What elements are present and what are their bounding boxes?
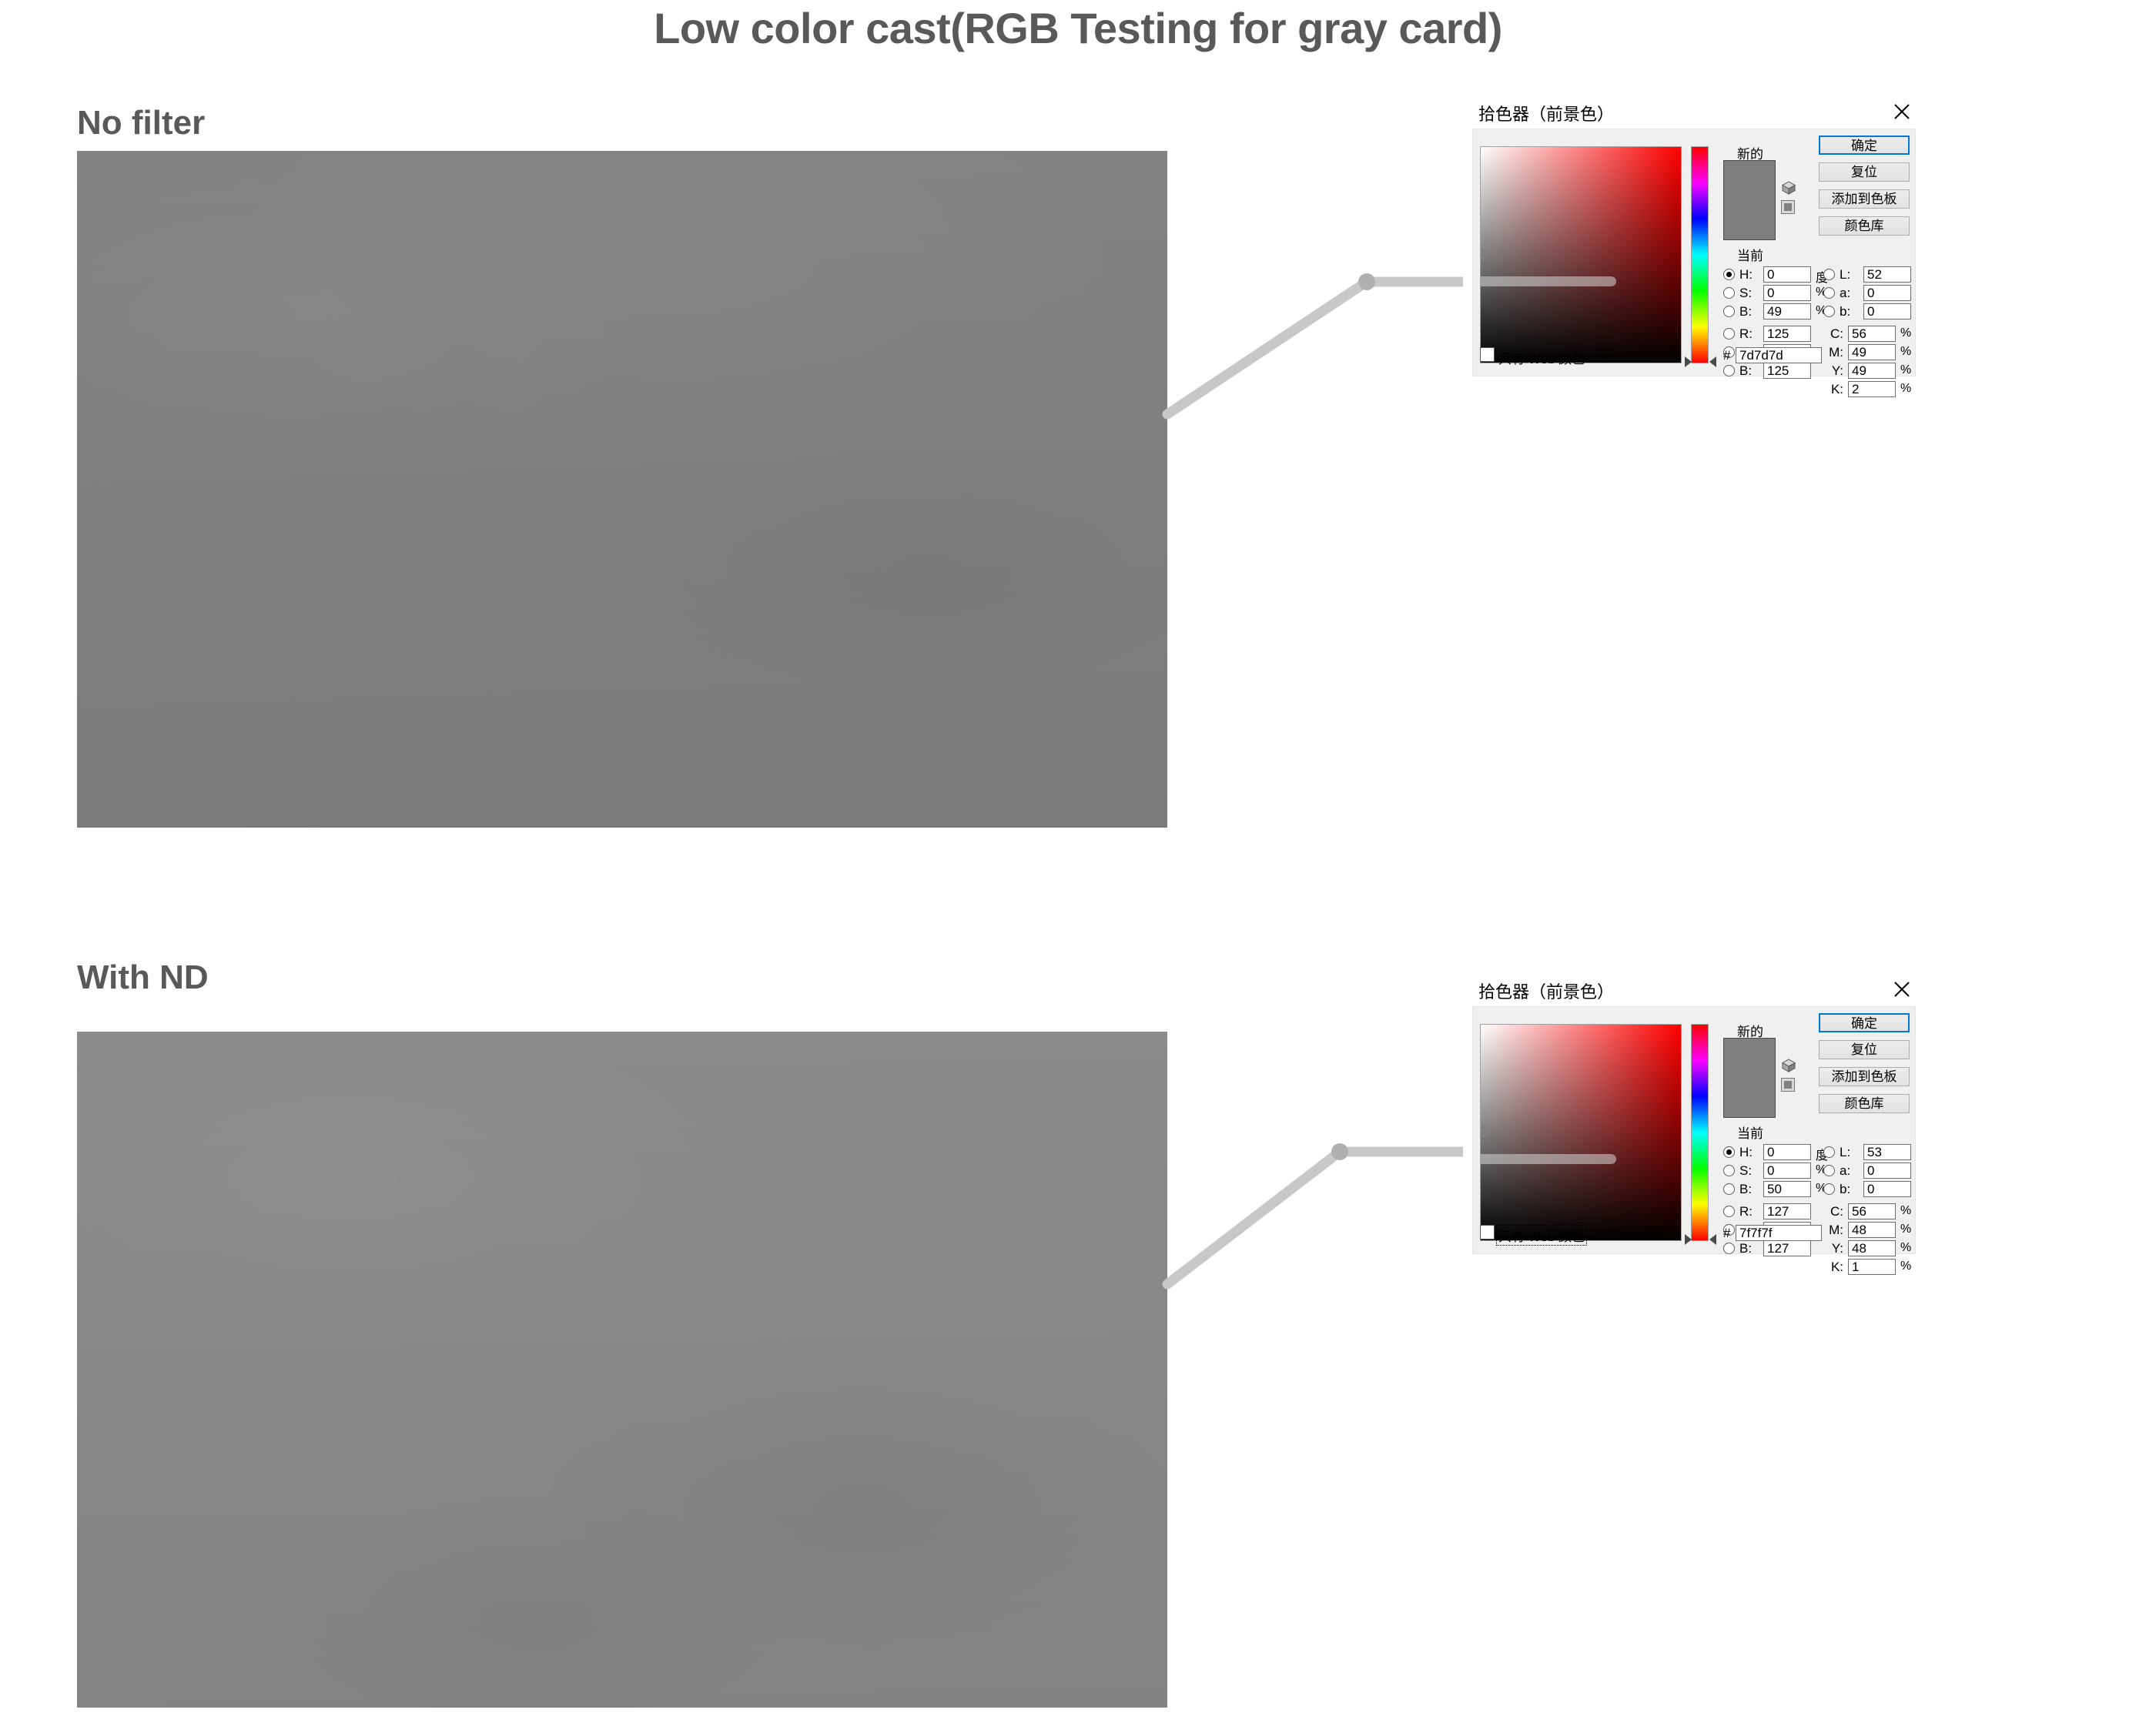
label-lab-l: L: — [1840, 1145, 1850, 1160]
dialog-title: 拾色器（前景色） — [1478, 101, 1614, 125]
label-hue: H: — [1739, 267, 1753, 283]
dialog-body: 新的 当前 H: 0 度 S: 0 % B: 50 % — [1472, 1006, 1916, 1254]
hue-slider-handle-left[interactable] — [1685, 1234, 1692, 1245]
input-cyan[interactable]: 56 — [1848, 326, 1896, 342]
label-magenta: M: — [1823, 345, 1843, 360]
input-black[interactable]: 2 — [1848, 381, 1896, 397]
input-hue[interactable]: 0 — [1763, 266, 1811, 283]
input-hex[interactable]: 7d7d7d — [1736, 347, 1822, 363]
unit-yellow: % — [1900, 363, 1911, 377]
label-saturation: S: — [1739, 1163, 1752, 1179]
web-colors-only-checkbox[interactable] — [1480, 347, 1495, 362]
radio-lab-l[interactable] — [1823, 269, 1835, 280]
label-lab-a: a: — [1840, 286, 1850, 301]
close-icon[interactable] — [1890, 99, 1914, 124]
radio-lab-l[interactable] — [1823, 1146, 1835, 1158]
color-cursor-marker[interactable] — [1480, 1126, 1487, 1137]
radio-red[interactable] — [1723, 1206, 1735, 1217]
reset-button[interactable]: 复位 — [1819, 1040, 1910, 1059]
hue-slider[interactable] — [1691, 146, 1709, 363]
radio-blue[interactable] — [1723, 365, 1735, 376]
radio-saturation[interactable] — [1723, 1165, 1735, 1176]
input-magenta[interactable]: 48 — [1848, 1222, 1896, 1238]
label-blue: B: — [1739, 1241, 1752, 1256]
saturation-value-field[interactable] — [1480, 146, 1682, 363]
label-yellow: Y: — [1823, 363, 1843, 379]
input-blue[interactable]: 125 — [1763, 363, 1811, 379]
input-hue[interactable]: 0 — [1763, 1144, 1811, 1160]
dialog-titlebar[interactable]: 拾色器（前景色） — [1463, 974, 1925, 1006]
color-picker-dialog-with-nd[interactable]: 拾色器（前景色） 新的 当前 H: — [1463, 974, 1925, 1266]
web-colors-only-checkbox[interactable] — [1480, 1225, 1495, 1240]
input-lab-l[interactable]: 52 — [1863, 266, 1911, 283]
label-lab-b: b: — [1840, 304, 1850, 320]
input-black[interactable]: 1 — [1848, 1259, 1896, 1275]
input-cyan[interactable]: 56 — [1848, 1203, 1896, 1219]
color-picker-dialog-no-filter[interactable]: 拾色器（前景色） 新的 当前 H: — [1463, 96, 1925, 389]
hex-prefix-label: # — [1723, 348, 1730, 363]
input-yellow[interactable]: 49 — [1848, 363, 1896, 379]
label-brightness: B: — [1739, 1182, 1752, 1197]
radio-lab-a[interactable] — [1823, 287, 1835, 299]
label-cyan: C: — [1823, 326, 1843, 342]
new-color-swatch — [1724, 1039, 1775, 1117]
input-hex[interactable]: 7f7f7f — [1736, 1225, 1822, 1241]
color-preview-swatch — [1723, 160, 1776, 240]
web-colors-only-label: 只有 Web 颜色 — [1497, 1226, 1586, 1245]
input-lab-b[interactable]: 0 — [1863, 1181, 1911, 1197]
label-lab-a: a: — [1840, 1163, 1850, 1179]
page-title: Low color cast(RGB Testing for gray card… — [0, 3, 2156, 53]
input-red[interactable]: 125 — [1763, 326, 1811, 342]
input-red[interactable]: 127 — [1763, 1203, 1811, 1219]
radio-brightness[interactable] — [1723, 1183, 1735, 1195]
new-color-swatch — [1724, 161, 1775, 239]
hex-prefix-label: # — [1723, 1226, 1730, 1241]
saturation-value-field[interactable] — [1480, 1024, 1682, 1241]
unit-cyan: % — [1900, 1204, 1911, 1218]
section-label-no-filter: No filter — [77, 104, 205, 142]
label-blue: B: — [1739, 363, 1752, 379]
radio-lab-a[interactable] — [1823, 1165, 1835, 1176]
dialog-title: 拾色器（前景色） — [1478, 979, 1614, 1003]
add-to-swatches-button[interactable]: 添加到色板 — [1819, 189, 1910, 209]
color-cursor-marker[interactable] — [1480, 249, 1487, 259]
input-brightness[interactable]: 49 — [1763, 303, 1811, 320]
label-black: K: — [1823, 382, 1843, 397]
unit-magenta: % — [1900, 345, 1911, 359]
radio-hue[interactable] — [1723, 1146, 1735, 1158]
input-saturation[interactable]: 0 — [1763, 285, 1811, 301]
dialog-titlebar[interactable]: 拾色器（前景色） — [1463, 96, 1925, 129]
unit-yellow: % — [1900, 1241, 1911, 1255]
unit-magenta: % — [1900, 1223, 1911, 1236]
unit-cyan: % — [1900, 326, 1911, 340]
input-lab-a[interactable]: 0 — [1863, 285, 1911, 301]
current-color-label: 当前 — [1723, 245, 1777, 264]
input-brightness[interactable]: 50 — [1763, 1181, 1811, 1197]
label-lab-b: b: — [1840, 1182, 1850, 1197]
ok-button[interactable]: 确定 — [1819, 1013, 1910, 1032]
dialog-body: 新的 当前 H: 0 度 S: 0 % B: 49 % — [1472, 129, 1916, 376]
close-icon[interactable] — [1890, 977, 1914, 1002]
add-to-swatches-button[interactable]: 添加到色板 — [1819, 1067, 1910, 1086]
hue-slider-handle-left[interactable] — [1685, 356, 1692, 367]
leader-beam-overlay — [1480, 276, 1616, 286]
radio-saturation[interactable] — [1723, 287, 1735, 299]
radio-lab-b[interactable] — [1823, 306, 1835, 317]
unit-black: % — [1900, 382, 1911, 396]
input-magenta[interactable]: 49 — [1848, 344, 1896, 360]
radio-lab-b[interactable] — [1823, 1183, 1835, 1195]
input-lab-a[interactable]: 0 — [1863, 1163, 1911, 1179]
gray-card-photo-no-filter — [77, 151, 1167, 828]
ok-button[interactable]: 确定 — [1819, 135, 1910, 155]
label-red: R: — [1739, 326, 1753, 342]
radio-hue[interactable] — [1723, 269, 1735, 280]
hue-slider-handle-right[interactable] — [1709, 1234, 1716, 1245]
non-web-safe-warning-icon[interactable] — [1781, 1078, 1795, 1092]
color-libraries-button[interactable]: 颜色库 — [1819, 1094, 1910, 1113]
web-colors-only-label: 只有 Web 颜色 — [1498, 348, 1585, 367]
color-preview-swatch — [1723, 1038, 1776, 1118]
label-hue: H: — [1739, 1145, 1753, 1160]
radio-red[interactable] — [1723, 328, 1735, 340]
radio-blue[interactable] — [1723, 1243, 1735, 1254]
label-saturation: S: — [1739, 286, 1752, 301]
input-blue[interactable]: 127 — [1763, 1240, 1811, 1256]
label-black: K: — [1823, 1260, 1843, 1275]
label-yellow: Y: — [1823, 1241, 1843, 1256]
reset-button[interactable]: 复位 — [1819, 162, 1910, 182]
label-cyan: C: — [1823, 1204, 1843, 1219]
section-label-with-nd: With ND — [77, 959, 209, 997]
leader-beam-overlay — [1480, 1154, 1616, 1164]
hue-slider-handle-right[interactable] — [1709, 356, 1716, 367]
label-red: R: — [1739, 1204, 1753, 1219]
label-brightness: B: — [1739, 304, 1752, 320]
current-color-label: 当前 — [1723, 1122, 1777, 1142]
input-lab-l[interactable]: 53 — [1863, 1144, 1911, 1160]
unit-black: % — [1900, 1260, 1911, 1273]
radio-brightness[interactable] — [1723, 306, 1735, 317]
gray-card-photo-with-nd — [77, 1032, 1167, 1708]
out-of-gamut-warning-icon[interactable] — [1781, 1058, 1796, 1073]
non-web-safe-warning-icon[interactable] — [1781, 200, 1795, 214]
out-of-gamut-warning-icon[interactable] — [1781, 180, 1796, 196]
input-lab-b[interactable]: 0 — [1863, 303, 1911, 320]
color-libraries-button[interactable]: 颜色库 — [1819, 216, 1910, 236]
input-saturation[interactable]: 0 — [1763, 1163, 1811, 1179]
label-magenta: M: — [1823, 1223, 1843, 1238]
hue-slider[interactable] — [1691, 1024, 1709, 1241]
input-yellow[interactable]: 48 — [1848, 1240, 1896, 1256]
label-lab-l: L: — [1840, 267, 1850, 283]
